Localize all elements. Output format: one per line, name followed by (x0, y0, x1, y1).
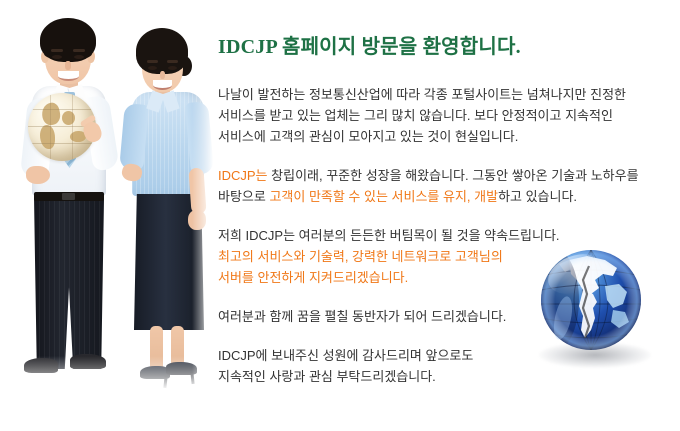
paragraph-2: IDCJP는 창립이래, 꾸준한 성장을 해왔습니다. 그동안 쌓아온 기술과 … (218, 165, 680, 207)
globe-latitude-line (28, 109, 96, 110)
man-hair (40, 18, 96, 62)
text-line: 저희 IDCJP는 여러분의 든든한 버팀목이 될 것을 약속드립니다. (218, 228, 560, 243)
text-segment: 하고 있습니다. (498, 189, 577, 204)
woman-hair (136, 28, 188, 74)
globe-longitude-line (72, 93, 73, 161)
woman-eye-right (168, 66, 177, 70)
woman-eye-left (148, 66, 157, 70)
globe-landmass (62, 111, 75, 125)
photo-right-fade (192, 0, 218, 400)
man-eyebrow-left (51, 49, 63, 52)
text-segment: 창립이래, 꾸준한 성장을 해왔습니다. 그동안 쌓아온 기술과 노하우를 (268, 168, 639, 183)
text-line-accent: 서버를 안전하게 지켜드리겠습니다. (218, 270, 408, 285)
text-line: IDCJP에 보내주신 성원에 감사드리며 앞으로도 (218, 348, 473, 363)
man-eye-right (74, 55, 84, 59)
text-segment: 바탕으로 (218, 189, 269, 204)
man-eye-left (52, 55, 62, 59)
woman-nose (160, 71, 165, 79)
page-title: IDCJP 홈페이지 방문을 환영합니다. (218, 30, 521, 59)
text-line-accent: 최고의 서비스와 기술력, 강력한 네트워크로 고객님의 (218, 249, 503, 264)
woman-smile (153, 80, 172, 90)
man-hand-left (26, 166, 50, 184)
woman-eyebrow-left (147, 60, 158, 63)
man-belt-buckle (62, 193, 75, 200)
text-line: 서비스를 받고 있는 업체는 그리 많치 않습니다. 보다 안정적이고 지속적인 (218, 108, 613, 123)
man-eyebrow-right (73, 49, 85, 52)
blue-earth-globe-graphic (533, 246, 657, 370)
business-people-photo (0, 0, 218, 400)
globe-landmass (40, 125, 55, 149)
text-line: 여러분과 함께 꿈을 펼칠 동반자가 되어 드리겠습니다. (218, 309, 506, 324)
text-line: 지속적인 사랑과 관심 부탁드리겠습니다. (218, 369, 436, 384)
globe-longitude-line (50, 93, 51, 161)
text-line: 서비스에 고객의 관심이 모아지고 있는 것이 현실입니다. (218, 129, 518, 144)
man-trousers (34, 199, 104, 369)
text-line: 나날이 발전하는 정보통신산업에 따라 각종 포털사이트는 넘쳐나지만 진정한 (218, 87, 626, 102)
paragraph-1: 나날이 발전하는 정보통신산업에 따라 각종 포털사이트는 넘쳐나지만 진정한 … (218, 84, 680, 147)
photo-bottom-fade (0, 356, 218, 400)
man-smile (58, 71, 79, 81)
woman-eyebrow-right (167, 60, 178, 63)
highlight-segment: 고객이 만족할 수 있는 서비스를 유지, 개발 (269, 189, 498, 204)
man-nose (65, 61, 71, 70)
globe-drop-shadow (539, 342, 651, 368)
globe-landmass (40, 101, 62, 126)
globe-latitude-line (28, 143, 96, 144)
brand-name-accent: IDCJP는 (218, 168, 268, 183)
welcome-page: IDCJP 홈페이지 방문을 환영합니다. 나날이 발전하는 정보통신산업에 따… (0, 0, 680, 431)
